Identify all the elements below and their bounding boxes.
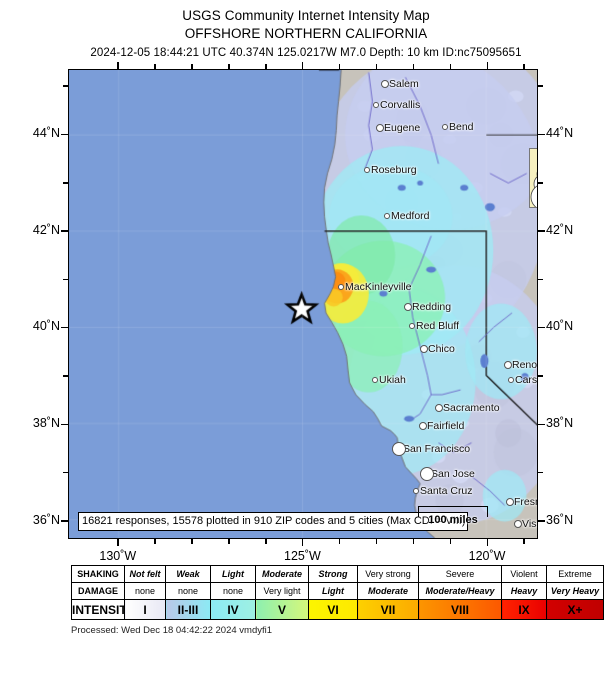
lon-minor-tick xyxy=(154,64,156,69)
lon-minor-tick xyxy=(376,64,378,69)
table-row-intensity: INTENSITY III-IIIIVVVIVIIVIIIIXX+ xyxy=(72,600,604,620)
lat-label-36: 36˚N xyxy=(546,513,586,527)
lat-label-38: 38˚N xyxy=(20,416,60,430)
lat-tick xyxy=(538,424,545,426)
city-label: Redding xyxy=(412,301,451,313)
lat-tick xyxy=(538,327,545,329)
lon-tick xyxy=(487,62,489,69)
lat-label-44: 44˚N xyxy=(546,126,586,140)
damage-cell-8: Very Heavy xyxy=(547,583,604,600)
city-label: Medford xyxy=(391,210,430,222)
lat-label-42: 42˚N xyxy=(20,223,60,237)
intensity-cell-7: IX xyxy=(502,600,547,620)
lon-minor-tick xyxy=(523,64,525,69)
damage-cell-0: none xyxy=(125,583,166,600)
lat-tick xyxy=(538,134,545,136)
lat-minor-tick xyxy=(63,279,68,281)
intensity-cell-6: VIII xyxy=(419,600,502,620)
map-header: USGS Community Internet Intensity Map OF… xyxy=(0,0,612,59)
city-label: Chico xyxy=(428,343,455,355)
city-label: MacKinleyville xyxy=(345,281,412,293)
city-label: Fairfield xyxy=(427,420,464,432)
lon-tick xyxy=(302,539,304,546)
city-label: Salem xyxy=(389,78,419,90)
city-label: Red Bluff xyxy=(416,320,459,332)
shaking-cell-3: Moderate xyxy=(256,566,309,583)
lon-tick xyxy=(302,62,304,69)
city-label: Visalia xyxy=(522,518,538,530)
intensity-scale-table: SHAKING Not feltWeakLightModerateStrongV… xyxy=(71,565,604,620)
lon-label-130: 130˚W xyxy=(92,549,144,563)
city-label: Reno xyxy=(512,359,537,371)
lon-minor-tick xyxy=(413,64,415,69)
scale-bar: 100 miles xyxy=(418,506,488,532)
row-label-shaking: SHAKING xyxy=(72,566,125,583)
lon-minor-tick xyxy=(339,539,341,544)
shaking-cell-6: Severe xyxy=(419,566,502,583)
city-label: Fresno xyxy=(514,496,538,508)
lon-minor-tick xyxy=(413,539,415,544)
row-label-damage: DAMAGE xyxy=(72,583,125,600)
lon-tick xyxy=(487,539,489,546)
lat-minor-tick xyxy=(63,472,68,474)
lat-minor-tick xyxy=(538,472,543,474)
lat-tick xyxy=(61,134,68,136)
city-label: Roseburg xyxy=(371,164,417,176)
lon-minor-tick xyxy=(154,539,156,544)
lat-minor-tick xyxy=(538,375,543,377)
lat-tick xyxy=(61,424,68,426)
lon-minor-tick xyxy=(265,539,267,544)
lat-minor-tick xyxy=(538,85,543,87)
lat-label-42: 42˚N xyxy=(546,223,586,237)
lon-minor-tick xyxy=(228,64,230,69)
damage-cell-4: Light xyxy=(309,583,358,600)
shaking-cell-0: Not felt xyxy=(125,566,166,583)
lon-minor-tick xyxy=(376,539,378,544)
lat-tick xyxy=(538,230,545,232)
city-label: Eugene xyxy=(384,122,420,134)
response-summary-box: 16821 responses, 15578 plotted in 910 ZI… xyxy=(78,512,468,531)
lon-label-120: 120˚W xyxy=(461,549,513,563)
damage-cell-3: Very light xyxy=(256,583,309,600)
city-size-circles-icon xyxy=(530,149,538,208)
row-label-intensity: INTENSITY xyxy=(72,600,125,620)
lon-tick xyxy=(117,539,119,546)
shaking-cell-5: Very strong xyxy=(358,566,419,583)
lat-label-40: 40˚N xyxy=(20,319,60,333)
lon-minor-tick xyxy=(523,539,525,544)
shaking-cell-7: Violent xyxy=(502,566,547,583)
intensity-cell-3: V xyxy=(256,600,309,620)
city-label: Santa Cruz xyxy=(420,485,473,497)
scale-bar-label: 100 miles xyxy=(418,514,488,526)
damage-cell-2: none xyxy=(211,583,256,600)
lon-label-125: 125˚W xyxy=(276,549,328,563)
damage-cell-7: Heavy xyxy=(502,583,547,600)
lat-tick xyxy=(61,327,68,329)
city-label: Carson City xyxy=(515,374,538,386)
city-label: Bend xyxy=(449,121,474,133)
lon-minor-tick xyxy=(228,539,230,544)
table-row-shaking: SHAKING Not feltWeakLightModerateStrongV… xyxy=(72,566,604,583)
lat-minor-tick xyxy=(63,85,68,87)
page-title: USGS Community Internet Intensity Map xyxy=(0,8,612,23)
city-label: Ukiah xyxy=(379,374,406,386)
lat-tick xyxy=(61,230,68,232)
lon-minor-tick xyxy=(450,64,452,69)
intensity-map[interactable]: SalemCorvallisEugeneBendRoseburgMedfordM… xyxy=(68,69,538,539)
lat-minor-tick xyxy=(63,182,68,184)
damage-cell-5: Moderate xyxy=(358,583,419,600)
shaking-cell-2: Light xyxy=(211,566,256,583)
damage-cell-1: none xyxy=(166,583,211,600)
lat-tick xyxy=(61,520,68,522)
city-label: San Francisco xyxy=(403,443,470,455)
intensity-cell-0: I xyxy=(125,600,166,620)
lat-label-44: 44˚N xyxy=(20,126,60,140)
shaking-cell-8: Extreme xyxy=(547,566,604,583)
lon-minor-tick xyxy=(191,64,193,69)
city-label: Sacramento xyxy=(443,402,500,414)
city-marker xyxy=(420,467,434,481)
lat-tick xyxy=(538,520,545,522)
city-label: San Jose xyxy=(431,468,475,480)
intensity-cell-1: II-III xyxy=(166,600,211,620)
lat-label-40: 40˚N xyxy=(546,319,586,333)
table-row-damage: DAMAGE nonenonenoneVery lightLightModera… xyxy=(72,583,604,600)
lat-label-36: 36˚N xyxy=(20,513,60,527)
city-size-legend: CITY SIZE <10,000 10,000+ 100,000+ 2M+ xyxy=(529,148,538,208)
event-region-title: OFFSHORE NORTHERN CALIFORNIA xyxy=(0,26,612,41)
intensity-cell-2: IV xyxy=(211,600,256,620)
lat-minor-tick xyxy=(63,375,68,377)
lon-minor-tick xyxy=(191,539,193,544)
intensity-cell-5: VII xyxy=(358,600,419,620)
processed-timestamp: Processed: Wed Dec 18 04:42:22 2024 vmdy… xyxy=(71,625,272,636)
event-metadata-line: 2024-12-05 18:44:21 UTC 40.374N 125.0217… xyxy=(0,47,612,59)
lon-minor-tick xyxy=(339,64,341,69)
lon-minor-tick xyxy=(265,64,267,69)
lon-minor-tick xyxy=(450,539,452,544)
shaking-cell-1: Weak xyxy=(166,566,211,583)
lat-label-38: 38˚N xyxy=(546,416,586,430)
lon-tick xyxy=(117,62,119,69)
lat-minor-tick xyxy=(538,279,543,281)
damage-cell-6: Moderate/Heavy xyxy=(419,583,502,600)
intensity-cell-4: VI xyxy=(309,600,358,620)
intensity-cell-8: X+ xyxy=(547,600,604,620)
shaking-cell-4: Strong xyxy=(309,566,358,583)
lat-minor-tick xyxy=(538,182,543,184)
city-label: Corvallis xyxy=(380,99,420,111)
city-marker xyxy=(392,442,406,456)
